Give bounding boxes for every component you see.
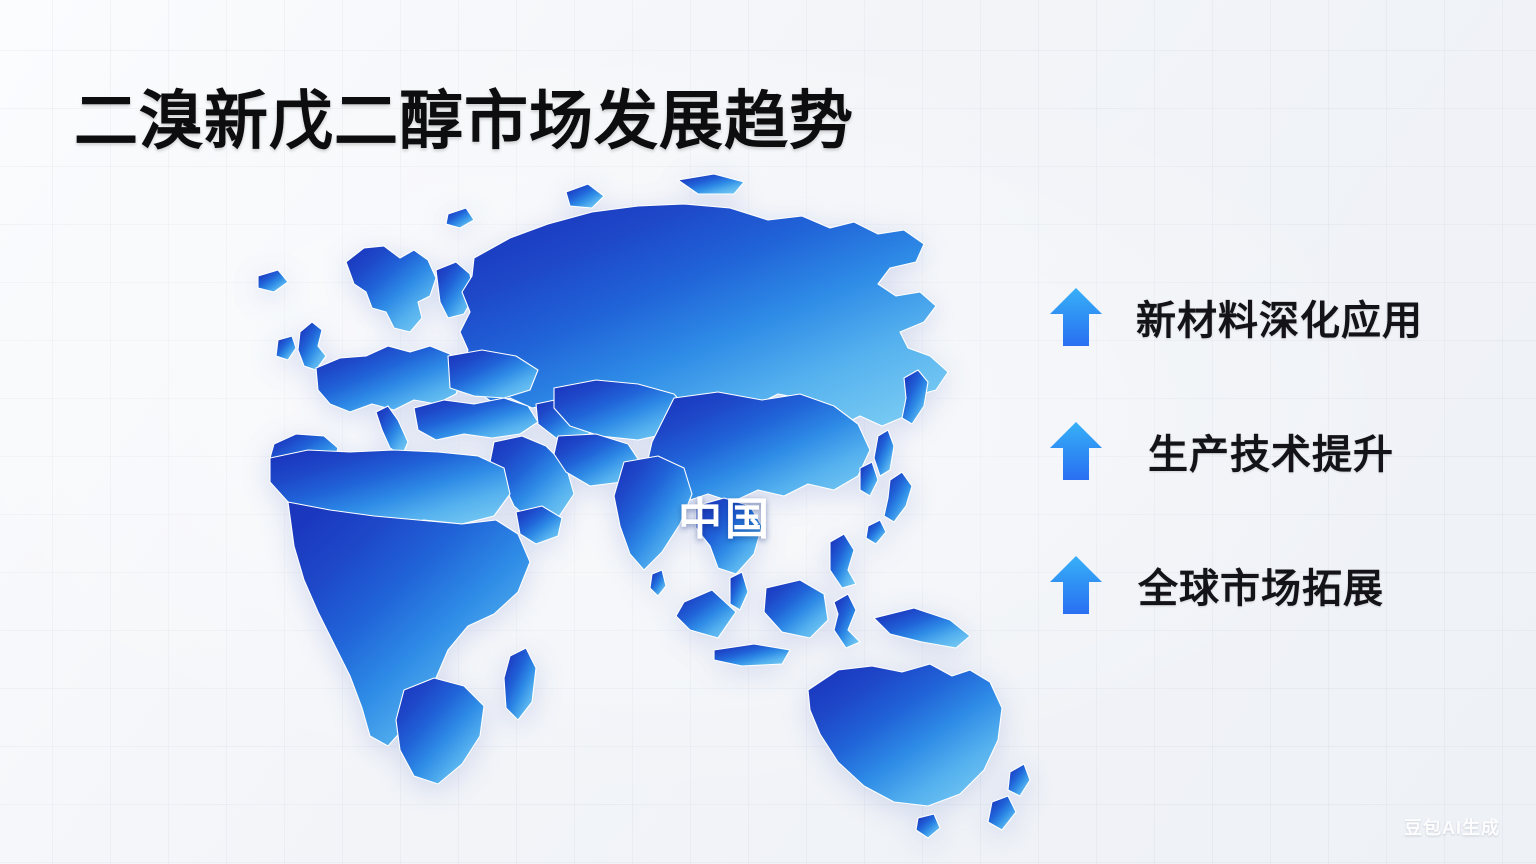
trend-item-1[interactable]: 新材料深化应用 xyxy=(1048,285,1488,349)
land-scandinavia xyxy=(346,246,436,332)
land-madagascar xyxy=(504,648,536,720)
land-russia xyxy=(460,204,948,426)
land-sakhalin xyxy=(874,430,894,476)
arrow-up-icon xyxy=(1048,554,1104,616)
trend-label-1: 新材料深化应用 xyxy=(1136,288,1423,346)
land-malay xyxy=(730,572,748,610)
land-korea xyxy=(860,462,878,496)
land-java xyxy=(714,644,790,666)
world-map: 中国 xyxy=(118,150,1048,850)
arrow-up-icon xyxy=(1048,420,1104,482)
land-india xyxy=(614,456,692,570)
slide-canvas: 二溴新戊二醇市场发展趋势 xyxy=(0,0,1536,864)
land-new-guinea xyxy=(874,608,970,648)
land-iceland xyxy=(258,270,288,292)
arrow-up-icon xyxy=(1048,286,1104,348)
land-italy xyxy=(376,406,408,456)
land-arctic-islands xyxy=(678,174,744,194)
land-great-britain xyxy=(298,322,326,370)
land-novaya-zemlya xyxy=(566,184,604,208)
watermark: 豆包AI生成 xyxy=(1404,814,1500,840)
trend-item-3[interactable]: 全球市场拓展 xyxy=(1048,553,1488,617)
land-sulawesi xyxy=(834,594,860,648)
land-svalbard xyxy=(446,208,474,228)
trend-item-2[interactable]: 生产技术提升 xyxy=(1048,419,1488,483)
land-australia xyxy=(808,664,1002,806)
land-kamchatka xyxy=(902,370,928,424)
land-japan xyxy=(884,472,912,522)
land-new-zealand-south xyxy=(988,796,1016,830)
land-ireland xyxy=(276,336,296,360)
land-sri-lanka xyxy=(650,570,666,596)
trend-list: 新材料深化应用 生产技术提升 全球市场拓展 xyxy=(1048,285,1488,617)
trend-label-2: 生产技术提升 xyxy=(1148,422,1394,480)
landmasses xyxy=(258,174,1030,838)
world-map-svg xyxy=(118,150,1048,850)
land-balkans-turkey xyxy=(414,398,538,440)
trend-label-3: 全球市场拓展 xyxy=(1138,556,1384,614)
land-sumatra xyxy=(676,590,736,638)
land-new-zealand-north xyxy=(1008,764,1030,796)
land-borneo xyxy=(764,580,828,638)
page-title: 二溴新戊二醇市场发展趋势 xyxy=(74,88,854,155)
land-southern-africa xyxy=(396,678,484,784)
land-philippines xyxy=(830,534,856,588)
land-tasmania xyxy=(916,814,940,838)
land-indochina xyxy=(696,498,762,574)
land-japan-south xyxy=(866,520,886,544)
